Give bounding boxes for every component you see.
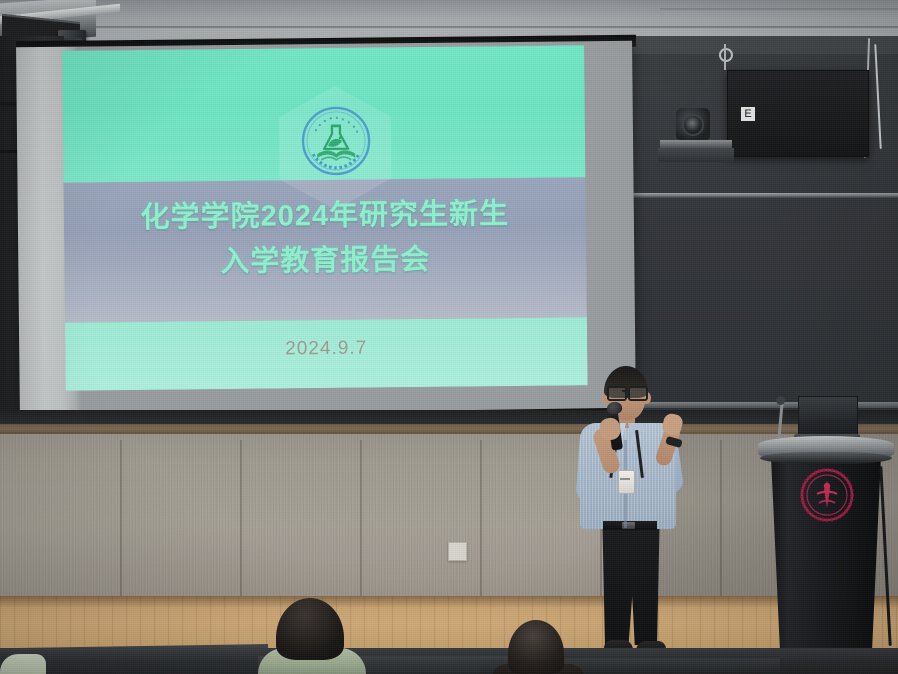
chemistry-college-emblem [299, 104, 374, 179]
slide-title-line-2: 入学教育报告会 [90, 236, 560, 286]
speaker-hanger [724, 44, 726, 70]
laptop-screen [798, 396, 858, 438]
eyeglasses-left-lens-icon [607, 386, 627, 401]
projected-slide: 化学学院2024年研究生新生 入学教育报告会 2024.9.7 [62, 45, 588, 390]
equipment-shelf [660, 140, 732, 148]
lectern-top-edge [760, 452, 892, 464]
slide-title: 化学学院2024年研究生新生 入学教育报告会 [90, 192, 561, 287]
audience-member-edge-left [0, 654, 46, 674]
stage-wall-panel-seam [120, 440, 122, 600]
ceiling-seam [0, 26, 898, 28]
projection-screen: 化学学院2024年研究生新生 入学教育报告会 2024.9.7 [16, 41, 636, 422]
speaker-brand-badge: E [741, 107, 755, 121]
university-seal [800, 468, 854, 522]
stage-wall-panel-seam [240, 440, 242, 600]
eyeglasses-right-lens-icon [628, 386, 648, 401]
stage-wall-panel-seam [720, 440, 722, 600]
right-wall-trim-line [620, 193, 898, 198]
gooseneck-mic-capsule-icon [776, 396, 785, 405]
wall-outlet-plate [448, 542, 467, 561]
stage-wall-panel-seam [360, 440, 362, 600]
right-wall-top-band [620, 36, 898, 54]
floor-wall-shadow [0, 596, 898, 608]
camera-lens-icon [682, 114, 704, 136]
ceiling-hook-icon [719, 48, 733, 62]
eyeglasses-bridge [622, 390, 629, 392]
presenter-id-badge-text-line [620, 478, 630, 480]
lecture-hall-photo: E [0, 0, 898, 674]
stage-wall-panel-seam [480, 440, 482, 600]
equipment-shelf-base [658, 148, 734, 162]
presenter-id-badge [618, 470, 635, 494]
slide-title-line-1: 化学学院2024年研究生新生 [90, 192, 560, 242]
ceiling-seam-right [660, 8, 898, 10]
